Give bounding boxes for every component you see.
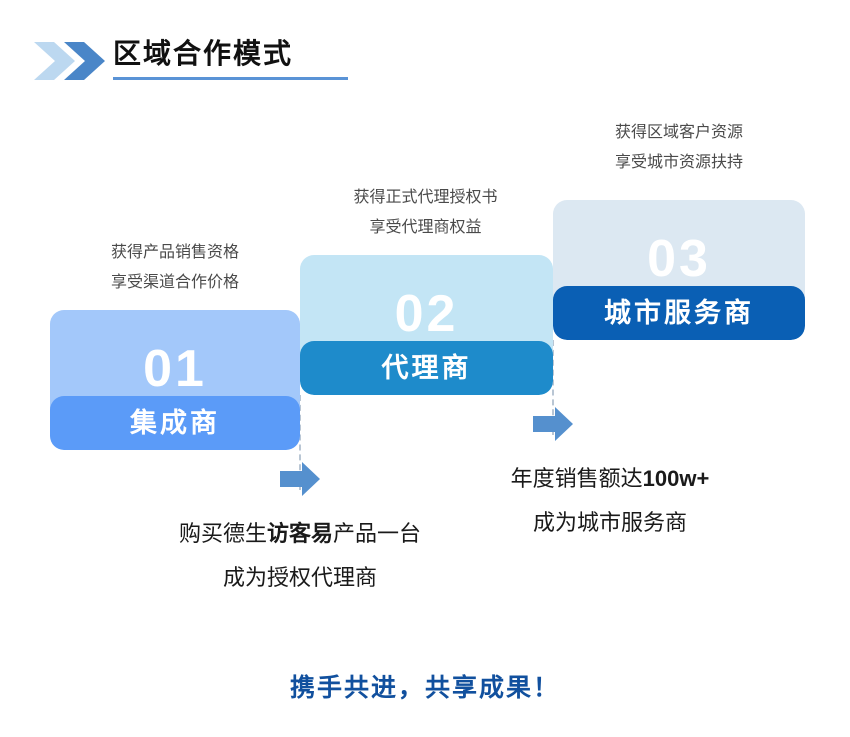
step-number-03: 03 [553,233,805,285]
requirement-highlight: 100w+ [643,466,710,491]
step-role-label-03: 城市服务商 [604,300,754,327]
step-benefit-line: 享受代理商权益 [298,213,553,243]
requirement-note-2: 年度销售额达100w+ 成为城市服务商 [425,457,795,545]
right-arrow-icon-2 [533,407,573,441]
requirement-line-2: 成为授权代理商 [115,556,485,600]
step-benefits-01: 获得产品销售资格 享受渠道合作价格 [50,238,300,298]
step-benefit-line: 获得区域客户资源 [553,118,805,148]
step-role-bar-01: 集成商 [50,396,300,450]
step-card-01[interactable]: 01 集成商 [50,310,300,450]
step-benefit-line: 获得正式代理授权书 [298,183,553,213]
step-benefits-03: 获得区域客户资源 享受城市资源扶持 [553,118,805,178]
step-benefit-line: 享受渠道合作价格 [50,268,300,298]
requirement-highlight: 访客易 [267,521,333,546]
requirement-prefix: 年度销售额达 [511,466,643,491]
requirement-suffix: 产品一台 [333,521,421,546]
step-role-bar-03: 城市服务商 [553,286,805,340]
step-card-03[interactable]: 03 城市服务商 [553,200,805,340]
step-benefit-line: 享受城市资源扶持 [553,148,805,178]
step-number-02: 02 [300,288,553,340]
step-role-bar-02: 代理商 [300,341,553,395]
step-number-01: 01 [50,343,300,395]
partnership-stair-diagram: 获得产品销售资格 享受渠道合作价格 获得正式代理授权书 享受代理商权益 获得区域… [0,0,850,737]
step-card-02[interactable]: 02 代理商 [300,255,553,395]
step-role-label-02: 代理商 [382,355,472,382]
step-benefit-line: 获得产品销售资格 [50,238,300,268]
right-arrow-icon-1 [280,462,320,496]
requirement-prefix: 购买德生 [179,521,267,546]
step-benefits-02: 获得正式代理授权书 享受代理商权益 [298,183,553,243]
step-role-label-01: 集成商 [130,410,220,437]
footer-slogan: 携手共进，共享成果！ [0,668,850,704]
requirement-line-2: 成为城市服务商 [425,501,795,545]
requirement-line-1: 年度销售额达100w+ [425,457,795,501]
